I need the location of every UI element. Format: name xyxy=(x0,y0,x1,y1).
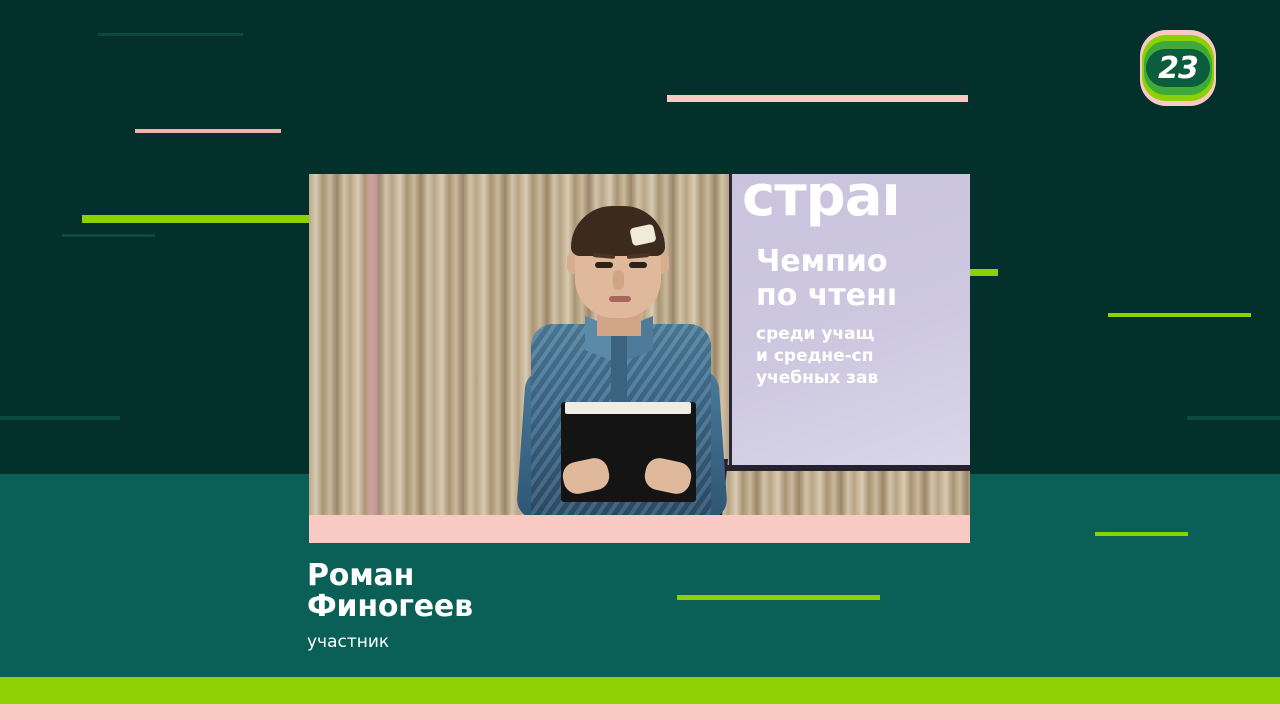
channel-logo[interactable]: 23 xyxy=(1140,30,1216,106)
person-eye-left xyxy=(595,262,613,268)
participant-name-line-2: Финогеев xyxy=(307,591,473,622)
deco-line-green-lower-right xyxy=(1095,532,1188,536)
footer-green-band xyxy=(0,677,1280,704)
footer-pink-band xyxy=(0,704,1280,720)
person-eye-right xyxy=(629,262,647,268)
deco-line-pink-top-right xyxy=(667,95,968,102)
screen-text-line-1: страı xyxy=(742,174,900,229)
screen-text-line-2: Чемпио xyxy=(756,244,887,279)
person-mouth xyxy=(609,296,631,302)
reading-paper xyxy=(565,402,691,414)
participant-photo: страı Чемпио по чтенı среди учащ и средн… xyxy=(309,174,970,543)
participant-role: участник xyxy=(307,631,473,653)
screen-text-line-4: среди учащ xyxy=(756,324,874,344)
screen-text-line-3: по чтенı xyxy=(756,278,897,313)
photo-accent-band xyxy=(309,515,970,543)
deco-line-teal-left-3 xyxy=(0,416,120,420)
deco-line-green-left xyxy=(82,215,309,223)
deco-line-green-behind-photo xyxy=(967,269,998,276)
curtain-pink-stripe xyxy=(364,174,382,515)
lower-third-caption: Роман Финогеев участник xyxy=(307,560,473,653)
screen-text-line-6: учебных зав xyxy=(756,368,878,388)
logo-number: 23 xyxy=(1140,30,1216,106)
person-nose xyxy=(613,270,624,290)
participant-name-line-1: Роман xyxy=(307,560,473,591)
deco-line-teal-right xyxy=(1187,416,1280,420)
deco-line-green-center xyxy=(677,595,880,600)
screen-base xyxy=(701,465,970,471)
deco-line-green-right xyxy=(1108,313,1251,317)
deco-line-teal-left-2 xyxy=(62,234,155,237)
screen-text-line-5: и средне-сп xyxy=(756,346,874,366)
deco-line-pink-upper-left xyxy=(135,129,281,133)
projection-screen: страı Чемпио по чтенı среди учащ и средн… xyxy=(729,174,970,465)
deco-line-top-teal xyxy=(98,33,243,36)
broadcast-frame: 23 страı Чемпио по чтенı среди учащ и ср… xyxy=(0,0,1280,720)
